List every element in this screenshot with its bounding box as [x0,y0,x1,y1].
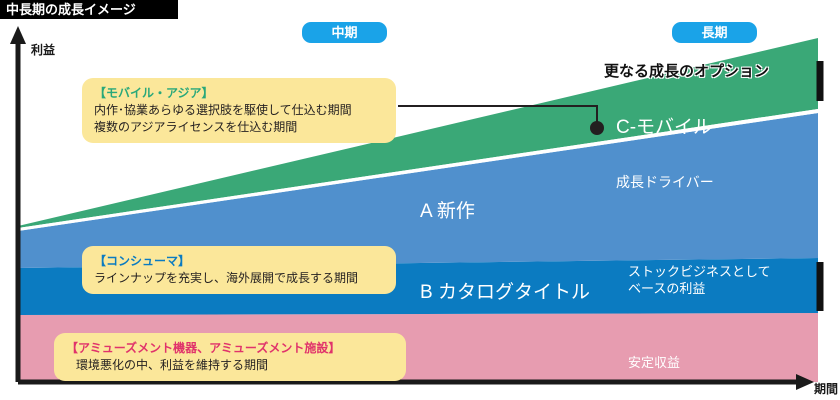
callout-mobile-header: 【モバイル・アジア】 [94,85,384,102]
growth-image-diagram: 中長期の成長イメージ 利益 期間 中期 長期 更なる成長のオプション C-モバイ… [0,0,840,400]
area-label-c-mobile: C-モバイル [616,112,712,139]
phase-badge-mid[interactable]: 中期 [302,22,387,43]
callout-mobile-asia: 【モバイル・アジア】 内作･協業あらゆる選択肢を駆使して仕込む期間 複数のアジア… [82,78,396,143]
callout-mobile-line-2: 複数のアジアライセンスを仕込む期間 [94,119,384,136]
callout-amusement: 【アミューズメント機器、アミューズメント施設】 環境悪化の中、利益を維持する期間 [54,333,406,381]
page-title: 中長期の成長イメージ [0,0,178,19]
area-label-a-new-titles: A 新作 [420,196,475,223]
callout-leader-dot [590,121,604,135]
area-label-stock-line2: ベースの利益 [628,280,771,297]
area-label-growth-option: 更なる成長のオプション [604,60,769,81]
callout-consumer-line-1: ラインナップを充実し、海外展開で成長する期間 [94,270,384,287]
callout-amusement-line-1: 環境悪化の中、利益を維持する期間 [66,357,394,374]
area-label-stock-line1: ストックビジネスとして [628,263,771,280]
area-label-b-catalog-titles: B カタログタイトル [420,277,590,304]
phase-badge-long[interactable]: 長期 [672,22,757,43]
y-axis-label: 利益 [31,41,55,58]
callout-amusement-header: 【アミューズメント機器、アミューズメント施設】 [66,340,394,357]
callout-consumer: 【コンシューマ】 ラインナップを充実し、海外展開で成長する期間 [82,246,396,294]
area-label-stock-business: ストックビジネスとして ベースの利益 [628,263,771,297]
area-label-growth-driver: 成長ドライバー [616,172,714,192]
x-axis-label: 期間 [814,380,838,397]
callout-mobile-line-1: 内作･協業あらゆる選択肢を駆使して仕込む期間 [94,102,384,119]
area-label-stable-revenue: 安定収益 [628,352,680,371]
callout-consumer-header: 【コンシューマ】 [94,253,384,270]
y-axis-arrowhead [10,26,26,44]
